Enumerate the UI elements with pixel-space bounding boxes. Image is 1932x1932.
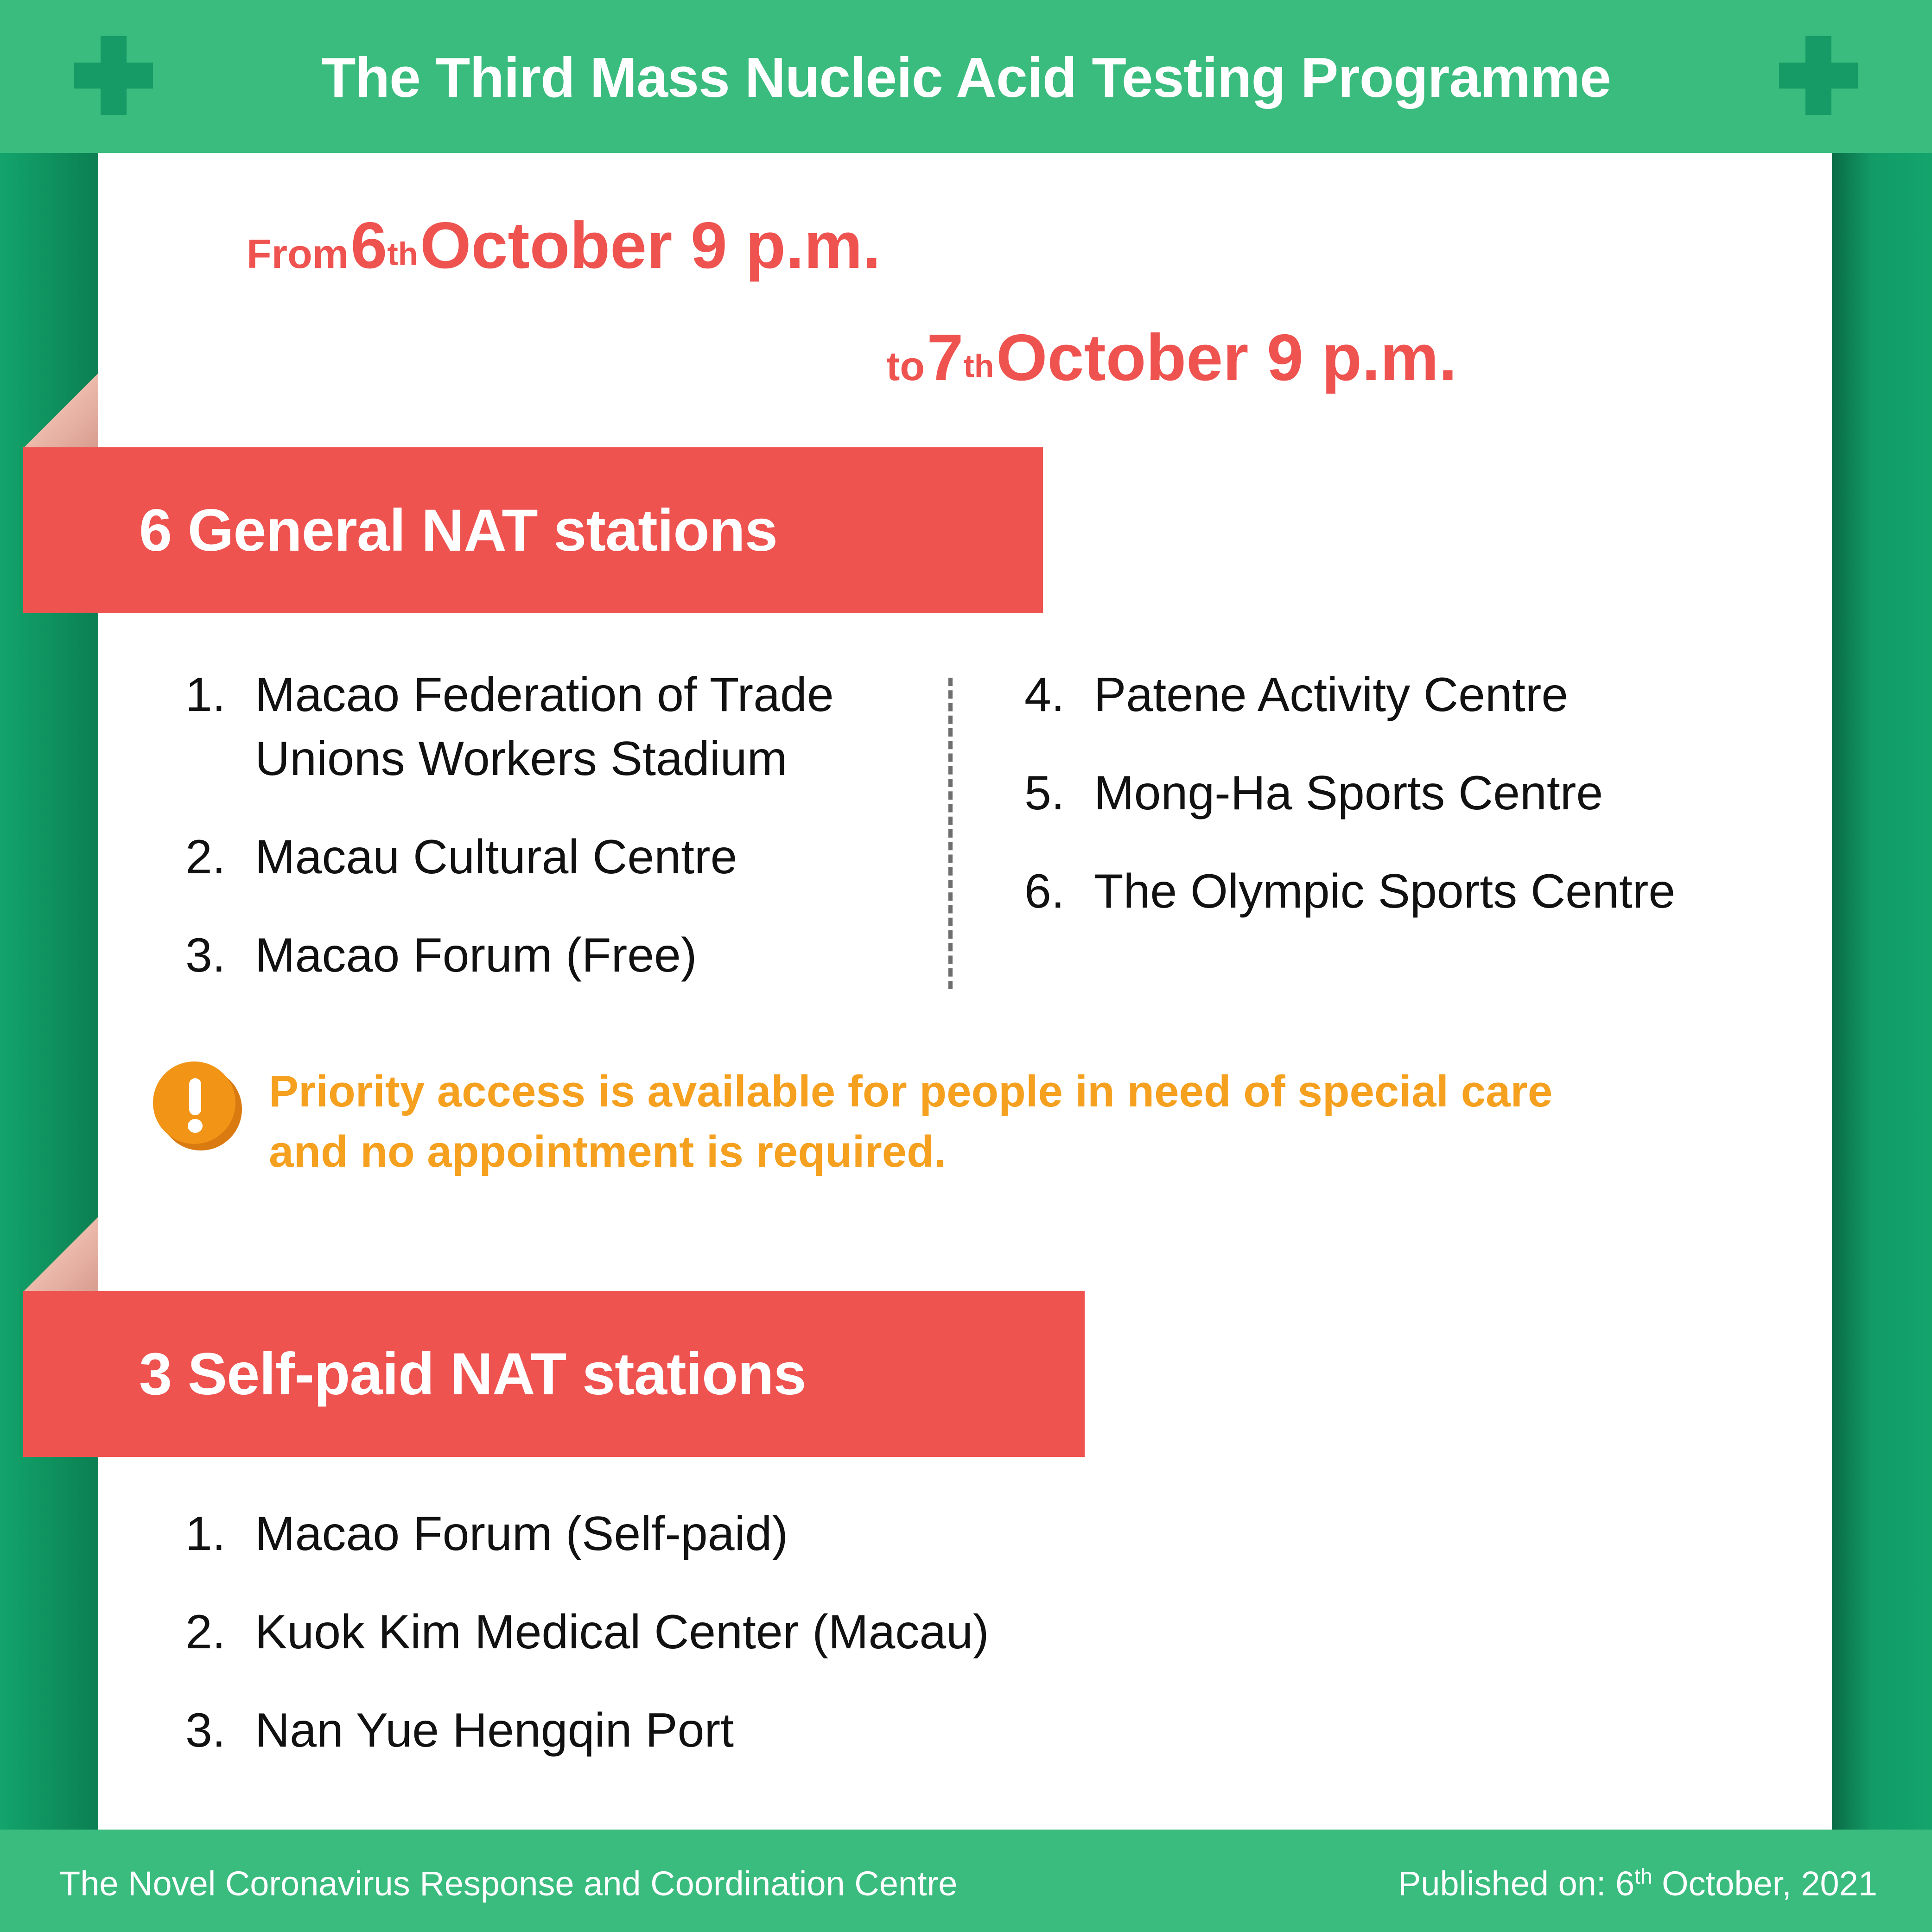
list-item: 5. Mong-Ha Sports Centre	[1024, 761, 1766, 825]
published-ordinal: th	[1634, 1864, 1652, 1888]
list-item-number: 2.	[185, 825, 255, 889]
list-item-number: 1.	[185, 1502, 255, 1566]
right-green-strip	[1832, 153, 1932, 1830]
date-day-start: 6	[350, 209, 387, 282]
note-line-2: and no appointment is required.	[269, 1122, 1552, 1182]
list-item-number: 3.	[185, 923, 255, 987]
list-item-number: 5.	[1024, 761, 1094, 825]
station-list-column-right: 4. Patene Activity Centre 5. Mong-Ha Spo…	[1024, 663, 1766, 958]
footer-bar: The Novel Coronavirus Response and Coord…	[0, 1830, 1932, 1932]
date-line-end: to 7th October 9 p.m.	[98, 323, 1721, 413]
selfpaid-list-column: 1. Macao Forum (Self-paid) 2. Kuok Kim M…	[185, 1502, 1391, 1797]
section-title-general: 6 General NAT stations	[23, 496, 777, 565]
exclamation-stem	[189, 1078, 201, 1115]
section-title-selfpaid: 3 Self-paid NAT stations	[23, 1340, 806, 1408]
list-item-number: 6.	[1024, 859, 1094, 923]
published-prefix: Published on: 6	[1398, 1864, 1634, 1903]
ribbon-banner-general: 6 General NAT stations	[23, 447, 1043, 613]
exclamation-circle-icon	[153, 1061, 242, 1150]
header-bar: The Third Mass Nucleic Acid Testing Prog…	[0, 0, 1932, 153]
date-ordinal-end: th	[964, 348, 994, 384]
list-item-label: Macau Cultural Centre	[255, 825, 909, 889]
list-item-label: The Olympic Sports Centre	[1094, 859, 1766, 923]
date-day-end: 7	[927, 321, 964, 394]
date-lead-to: to	[886, 343, 925, 389]
published-suffix: October, 2021	[1652, 1864, 1877, 1903]
date-line-start: From 6th October 9 p.m.	[98, 211, 1721, 301]
list-item: 6. The Olympic Sports Centre	[1024, 859, 1766, 923]
list-item-number: 3.	[185, 1698, 255, 1762]
list-item-label: Kuok Kim Medical Center (Macau)	[255, 1600, 1391, 1664]
footer-published-date: Published on: 6th October, 2021	[1398, 1864, 1877, 1903]
ribbon-banner-selfpaid: 3 Self-paid NAT stations	[23, 1291, 1085, 1457]
date-ordinal-start: th	[387, 236, 418, 272]
date-rest-end: October 9 p.m.	[996, 321, 1457, 394]
list-item: 4. Patene Activity Centre	[1024, 663, 1766, 727]
column-divider	[948, 678, 953, 989]
priority-access-note: Priority access is available for people …	[153, 1061, 1720, 1182]
poster-root: The Third Mass Nucleic Acid Testing Prog…	[0, 0, 1932, 1932]
list-item: 3. Macao Forum (Free)	[185, 923, 909, 987]
exclamation-dot	[188, 1119, 203, 1133]
page-title: The Third Mass Nucleic Acid Testing Prog…	[0, 43, 1932, 112]
list-item: 2. Macau Cultural Centre	[185, 825, 909, 889]
footer-organisation: The Novel Coronavirus Response and Coord…	[59, 1864, 957, 1903]
list-item: 1. Macao Federation of Trade Unions Work…	[185, 663, 909, 791]
list-item-number: 2.	[185, 1600, 255, 1664]
list-item-label: Mong-Ha Sports Centre	[1094, 761, 1766, 825]
date-range-block: From 6th October 9 p.m. to 7th October 9…	[98, 211, 1721, 413]
note-line-1: Priority access is available for people …	[269, 1061, 1552, 1122]
list-item-number: 1.	[185, 663, 255, 727]
list-item-label: Macao Forum (Free)	[255, 923, 909, 987]
note-text-block: Priority access is available for people …	[269, 1061, 1552, 1182]
list-item-number: 4.	[1024, 663, 1094, 727]
list-item-label: Patene Activity Centre	[1094, 663, 1766, 727]
list-item-label: Macao Federation of Trade Unions Workers…	[255, 663, 909, 791]
list-item: 1. Macao Forum (Self-paid)	[185, 1502, 1391, 1566]
station-list-column-left: 1. Macao Federation of Trade Unions Work…	[185, 663, 909, 1022]
date-lead-from: From	[247, 231, 349, 277]
date-rest-start: October 9 p.m.	[420, 209, 881, 282]
list-item-label: Macao Forum (Self-paid)	[255, 1502, 1391, 1566]
list-item: 2. Kuok Kim Medical Center (Macau)	[185, 1600, 1391, 1664]
list-item: 3. Nan Yue Hengqin Port	[185, 1698, 1391, 1762]
list-item-label: Nan Yue Hengqin Port	[255, 1698, 1391, 1762]
